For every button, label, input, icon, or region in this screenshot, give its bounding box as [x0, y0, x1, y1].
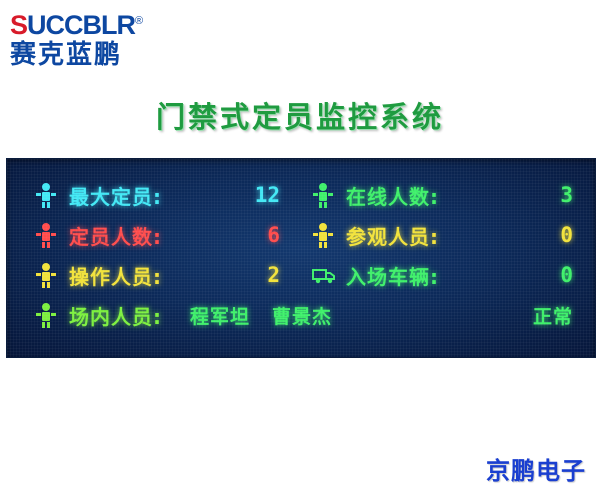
registered-trademark-icon: ® — [135, 15, 142, 27]
led-field-quota-count: 定员人数: 6 — [7, 221, 302, 250]
led-value: 12 — [255, 183, 302, 207]
led-value: 6 — [267, 223, 302, 247]
led-field-onsite-personnel: 场内人员: 程军坦 曹景杰 正常 — [7, 301, 595, 330]
led-row-onsite-personnel: 场内人员: 程军坦 曹景杰 正常 — [7, 295, 595, 335]
logo-english-text: SUCCBLR® — [10, 6, 250, 40]
led-field-operator-count: 操作人员: 2 — [7, 261, 302, 290]
person-icon-lime — [35, 302, 57, 328]
page-title: 门禁式定员监控系统 — [0, 94, 600, 136]
truck-icon-green — [312, 262, 334, 288]
logo-initial-letter: S — [10, 10, 27, 40]
led-row: 操作人员: 2 入场车辆: 0 — [7, 255, 595, 295]
led-value: 0 — [560, 263, 595, 287]
led-label: 最大定员: — [69, 181, 162, 210]
led-label: 场内人员: — [69, 301, 162, 330]
footer-brand: 京鹏电子 — [486, 451, 586, 486]
person-icon-green — [312, 182, 334, 208]
led-display-panel: 最大定员: 12 在线人数: 3 定员人数: 6 参观人员: 0 — [6, 158, 596, 358]
onsite-person-name-2: 曹景杰 — [272, 302, 332, 329]
led-row: 最大定员: 12 在线人数: 3 — [7, 175, 595, 215]
person-icon-yellow — [312, 222, 334, 248]
led-label: 参观人员: — [346, 221, 439, 250]
company-logo: SUCCBLR® 赛克蓝鹏 — [10, 6, 250, 68]
status-badge: 正常 — [533, 302, 595, 329]
led-field-visitor-count: 参观人员: 0 — [302, 221, 595, 250]
logo-english-rest: UCCBLR — [27, 10, 135, 40]
logo-chinese-text: 赛克蓝鹏 — [10, 40, 250, 70]
led-field-vehicle-count: 入场车辆: 0 — [302, 261, 595, 290]
led-value: 2 — [267, 263, 302, 287]
onsite-person-name-1: 程军坦 — [190, 302, 250, 329]
led-label: 入场车辆: — [346, 261, 439, 290]
led-label: 操作人员: — [69, 261, 162, 290]
person-icon-red — [35, 222, 57, 248]
led-value: 3 — [560, 183, 595, 207]
led-value: 0 — [560, 223, 595, 247]
person-icon-cyan — [35, 182, 57, 208]
led-row: 定员人数: 6 参观人员: 0 — [7, 215, 595, 255]
led-field-max-capacity: 最大定员: 12 — [7, 181, 302, 210]
led-field-online-count: 在线人数: 3 — [302, 181, 595, 210]
led-label: 定员人数: — [69, 221, 162, 250]
led-label: 在线人数: — [346, 181, 439, 210]
person-icon-yellow — [35, 262, 57, 288]
